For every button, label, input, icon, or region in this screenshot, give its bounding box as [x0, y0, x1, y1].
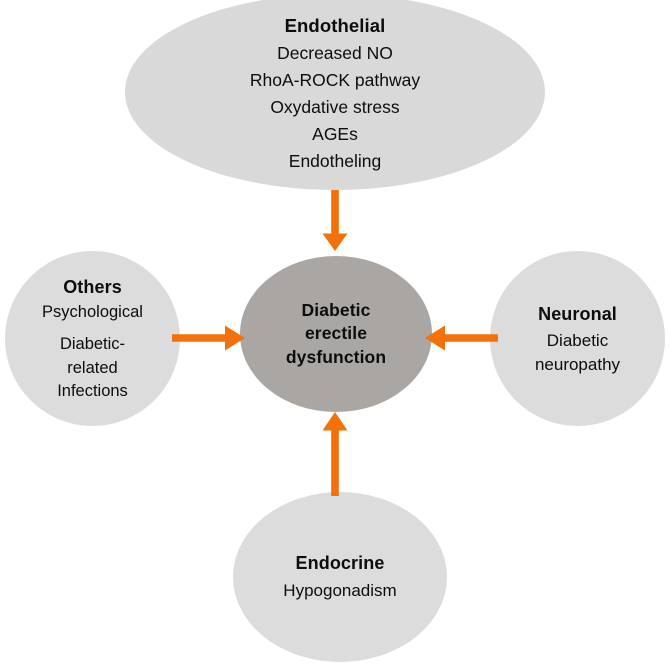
center-line-2: erectile	[305, 322, 367, 346]
arrow-up-icon	[315, 412, 355, 496]
node-others-group: Diabetic- related Infections	[57, 333, 128, 402]
node-endothelial-title: Endothelial	[285, 13, 386, 40]
center-line-1: Diabetic	[302, 299, 371, 323]
node-others-group-line-3: Infections	[57, 380, 128, 403]
arrow-down-icon	[315, 190, 355, 252]
node-neuronal-item-1: Diabetic	[547, 329, 608, 353]
node-endothelial-item-3: Oxydative stress	[270, 94, 399, 121]
node-neuronal-item-2: neuropathy	[535, 353, 620, 377]
node-endocrine-item-1: Hypogonadism	[283, 579, 396, 604]
node-others[interactable]: Others Psychological Diabetic- related I…	[5, 251, 180, 426]
arrow-left-icon	[424, 318, 498, 358]
node-endothelial-item-4: AGEs	[312, 121, 358, 148]
diagram-canvas: Endothelial Decreased NO RhoA-ROCK pathw…	[0, 0, 669, 669]
node-neuronal-title: Neuronal	[538, 301, 617, 327]
node-others-group-line-2: related	[57, 357, 128, 380]
node-endocrine-title: Endocrine	[296, 550, 385, 576]
node-endothelial-item-1: Decreased NO	[277, 40, 393, 67]
node-neuronal[interactable]: Neuronal Diabetic neuropathy	[490, 251, 665, 426]
node-others-group-line-1: Diabetic-	[57, 333, 128, 356]
node-endothelial-item-2: RhoA-ROCK pathway	[250, 67, 420, 94]
node-others-item-1: Psychological	[42, 301, 143, 324]
center-line-3: dysfunction	[286, 346, 386, 370]
node-diabetic-erectile-dysfunction[interactable]: Diabetic erectile dysfunction	[240, 256, 432, 412]
node-endocrine[interactable]: Endocrine Hypogonadism	[233, 492, 447, 662]
node-endothelial[interactable]: Endothelial Decreased NO RhoA-ROCK pathw…	[125, 0, 545, 190]
node-others-title: Others	[63, 274, 122, 300]
node-endothelial-item-5: Endotheling	[289, 148, 381, 175]
arrow-right-icon	[172, 318, 246, 358]
